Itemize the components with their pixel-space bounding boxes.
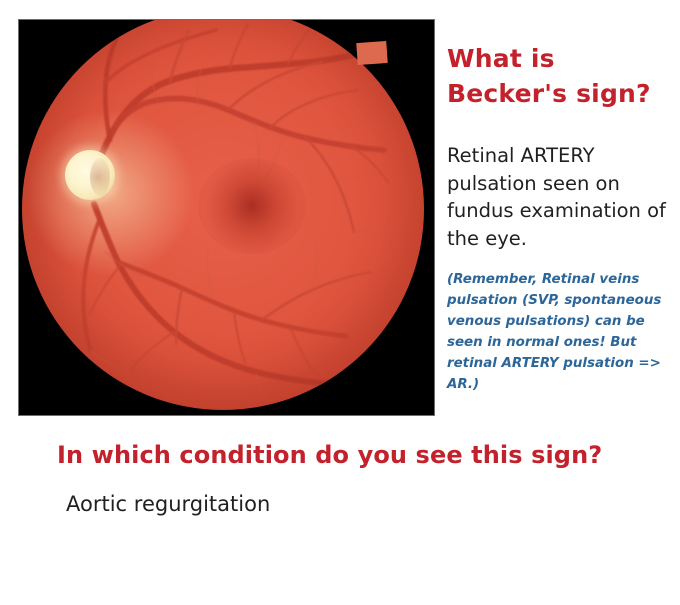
fundus-photograph: [19, 20, 434, 415]
answer-note: (Remember, Retinal veins pulsation (SVP,…: [447, 270, 677, 395]
condition-question: In which condition do you see this sign?: [57, 441, 602, 469]
condition-answer: Aortic regurgitation: [66, 492, 270, 516]
retina-disc: [22, 20, 424, 410]
fundus-artifact-notch: [356, 41, 387, 65]
question-title: What is Becker's sign?: [447, 42, 675, 111]
question-title-line-2: Becker's sign?: [447, 77, 675, 112]
answer-text: Retinal ARTERY pulsation seen on fundus …: [447, 142, 679, 253]
optic-cup-shadow: [90, 158, 110, 196]
question-title-line-1: What is: [447, 42, 675, 77]
macula: [198, 158, 306, 254]
